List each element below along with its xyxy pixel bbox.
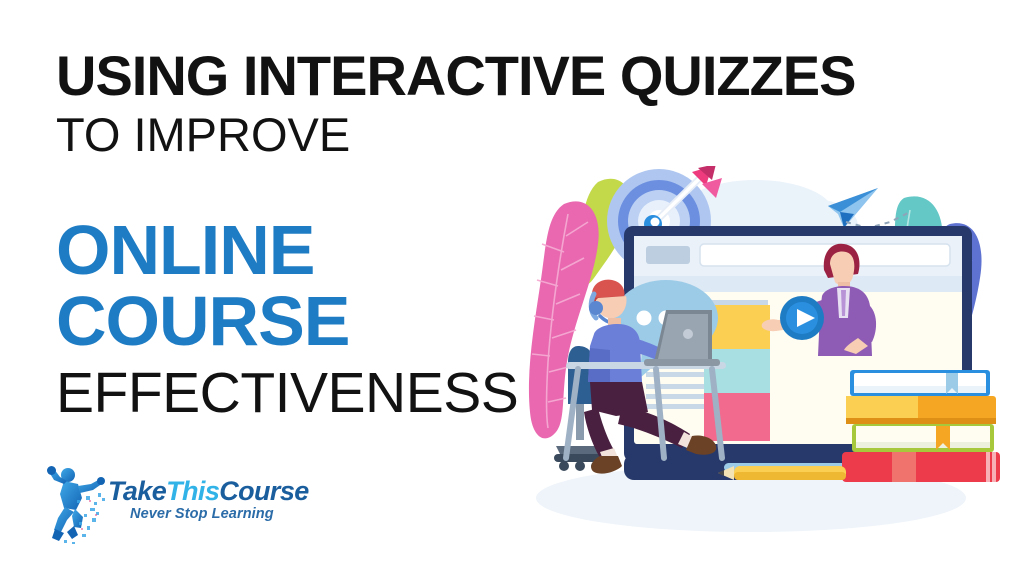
logo-word-course: Course	[219, 476, 308, 506]
headline-block: USING INTERACTIVE QUIZZES TO IMPROVE	[56, 48, 616, 161]
slide-canvas: USING INTERACTIVE QUIZZES TO IMPROVE ONL…	[0, 0, 1024, 576]
brand-logo[interactable]: TakeThisCourse Never Stop Learning	[34, 462, 324, 548]
logo-wordmark: TakeThisCourse Never Stop Learning	[108, 478, 328, 522]
online-learning-illustration	[506, 166, 1024, 538]
play-button	[780, 296, 824, 340]
logo-tagline: Never Stop Learning	[130, 506, 328, 522]
headline-line-1: USING INTERACTIVE QUIZZES	[56, 48, 616, 104]
logo-word-row: TakeThisCourse	[108, 478, 328, 505]
logo-word-take: Take	[108, 476, 166, 506]
pencil	[718, 466, 846, 480]
book-stack	[842, 370, 1000, 482]
logo-word-this: This	[166, 476, 219, 506]
running-figure-icon	[34, 462, 114, 544]
browser-logo-block	[646, 246, 690, 264]
headline-line-2: TO IMPROVE	[56, 110, 616, 161]
